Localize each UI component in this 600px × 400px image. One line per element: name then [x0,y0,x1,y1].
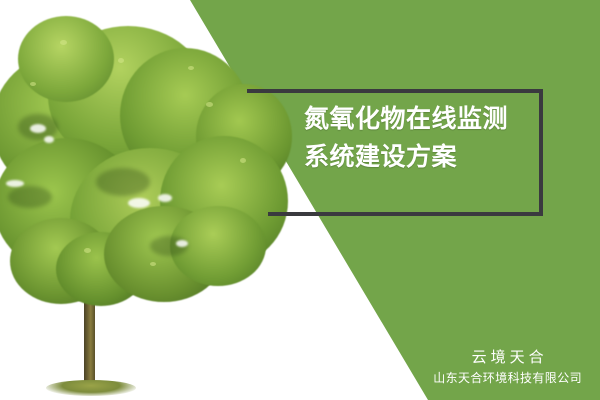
slide-title: 氮氧化物在线监测 系统建设方案 [304,100,508,176]
leaf-highlight [188,66,194,70]
tree-base-shadow [46,380,136,396]
leaf-highlight [60,40,67,45]
footer-block: 云境天合 山东天合环境科技有限公司 [433,346,582,388]
cover-slide: 氮氧化物在线监测 系统建设方案 云境天合 山东天合环境科技有限公司 [0,0,600,400]
company-name: 山东天合环境科技有限公司 [433,369,582,388]
canopy-sky-gap [44,136,54,143]
brand-name: 云境天合 [433,346,582,369]
leaf-highlight [150,262,156,266]
title-frame-right-line [539,89,543,216]
tree-illustration [0,0,300,400]
foliage-cluster [18,16,114,102]
title-frame-bottom-line [268,212,543,216]
canopy-shadow [96,168,150,196]
leaf-highlight [30,82,36,86]
canopy-shadow [8,186,52,208]
tree-canopy [0,18,290,293]
canopy-sky-gap [6,180,24,187]
title-frame-top-line [247,89,543,93]
canopy-sky-gap [158,194,172,202]
canopy-sky-gap [128,198,150,208]
slide-title-line-2: 系统建设方案 [304,138,508,176]
canopy-sky-gap [176,240,188,247]
leaf-highlight [118,58,124,63]
leaf-highlight [84,248,91,253]
canopy-sky-gap [30,124,46,133]
slide-title-line-1: 氮氧化物在线监测 [304,100,508,138]
leaf-highlight [206,102,213,107]
leaf-highlight [240,158,246,163]
